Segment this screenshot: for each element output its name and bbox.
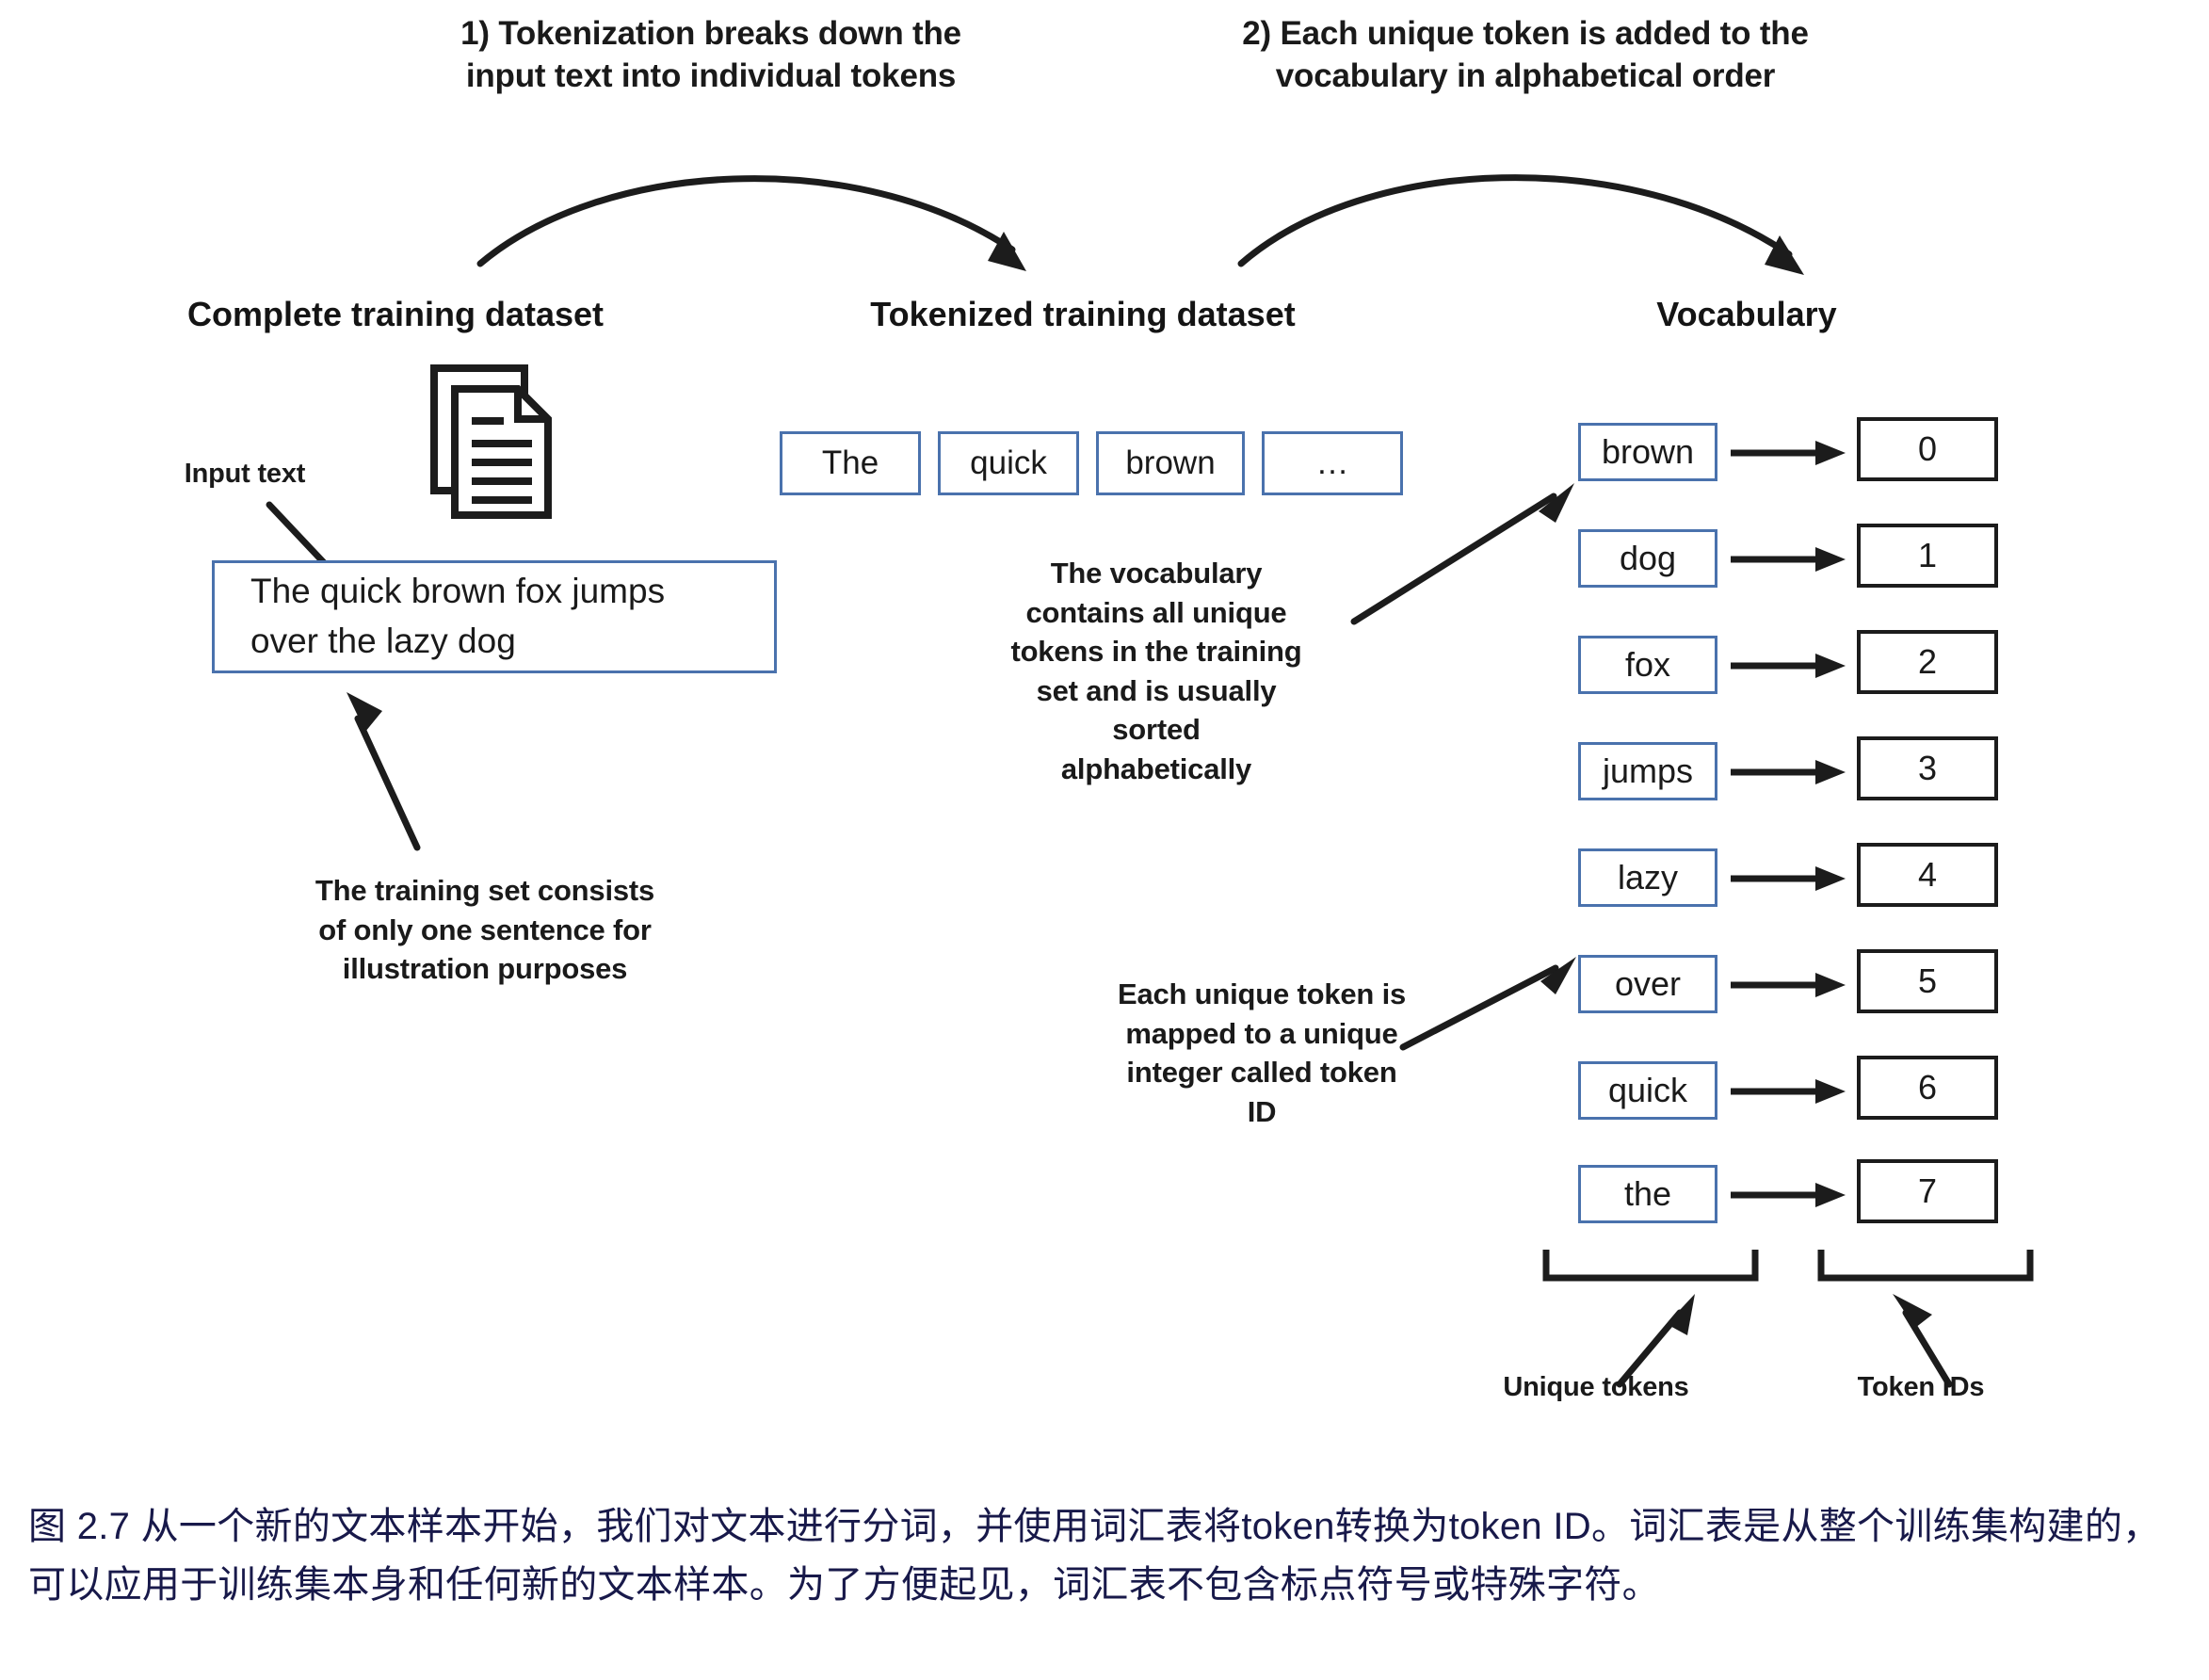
token-ids-label: Token IDs xyxy=(1780,1370,2062,1406)
token-id-6: 6 xyxy=(1857,1056,1998,1120)
vocabulary-note: The vocabulary contains all unique token… xyxy=(949,554,1363,788)
token-id-2: 2 xyxy=(1857,630,1998,694)
token-id-7: 7 xyxy=(1857,1159,1998,1223)
token-ids-bracket xyxy=(1815,1248,2041,1285)
vocab-token-5: over xyxy=(1578,955,1717,1013)
token-box-1: quick xyxy=(938,431,1079,495)
vocab-token-6: quick xyxy=(1578,1061,1717,1120)
token-box-2: brown xyxy=(1096,431,1245,495)
heading-complete-training-dataset: Complete training dataset xyxy=(94,295,697,334)
vocab-arrow-3 xyxy=(1731,758,1847,786)
vocab-token-1: dog xyxy=(1578,529,1717,588)
training-set-pointer-arrow xyxy=(311,673,433,862)
unique-tokens-bracket xyxy=(1540,1248,1766,1285)
vocab-token-7: the xyxy=(1578,1165,1717,1223)
vocab-token-2: fox xyxy=(1578,636,1717,694)
input-text-box: The quick brown fox jumps over the lazy … xyxy=(212,560,777,673)
step-1-title: 1) Tokenization breaks down the input te… xyxy=(414,13,1008,98)
vocab-arrow-2 xyxy=(1731,652,1847,680)
vocab-token-0: brown xyxy=(1578,423,1717,481)
vocab-token-4: lazy xyxy=(1578,848,1717,907)
input-text-line-1: The quick brown fox jumps xyxy=(250,567,774,617)
input-text-label: Input text xyxy=(137,457,353,493)
input-text-line-2: over the lazy dog xyxy=(250,617,774,667)
vocab-token-3: jumps xyxy=(1578,742,1717,800)
vocab-arrow-4 xyxy=(1731,864,1847,893)
token-box-0: The xyxy=(780,431,921,495)
vocab-arrow-7 xyxy=(1731,1181,1847,1209)
vocab-arrow-5 xyxy=(1731,971,1847,999)
figure-canvas: 1) Tokenization breaks down the input te… xyxy=(0,0,2209,1680)
heading-tokenized-training-dataset: Tokenized training dataset xyxy=(744,295,1422,334)
vocabulary-note-arrow xyxy=(1337,457,1582,636)
vocab-arrow-1 xyxy=(1731,545,1847,573)
step-2-curved-arrow xyxy=(1224,141,1846,297)
token-id-0: 0 xyxy=(1857,417,1998,481)
unique-tokens-label: Unique tokens xyxy=(1441,1370,1751,1406)
token-id-3: 3 xyxy=(1857,736,1998,800)
token-id-4: 4 xyxy=(1857,843,1998,907)
document-stack-icon xyxy=(428,363,570,532)
token-id-note-arrow xyxy=(1394,942,1582,1064)
heading-vocabulary: Vocabulary xyxy=(1525,295,1968,334)
vocab-arrow-6 xyxy=(1731,1077,1847,1106)
figure-caption: 图 2.7 从一个新的文本样本开始，我们对文本进行分词，并使用词汇表将token… xyxy=(28,1497,2185,1614)
vocab-arrow-0 xyxy=(1731,439,1847,467)
step-1-curved-arrow xyxy=(461,141,1064,292)
token-id-1: 1 xyxy=(1857,524,1998,588)
training-set-note: The training set consists of only one se… xyxy=(264,871,706,989)
token-id-5: 5 xyxy=(1857,949,1998,1013)
step-2-title: 2) Each unique token is added to the voc… xyxy=(1205,13,1846,98)
